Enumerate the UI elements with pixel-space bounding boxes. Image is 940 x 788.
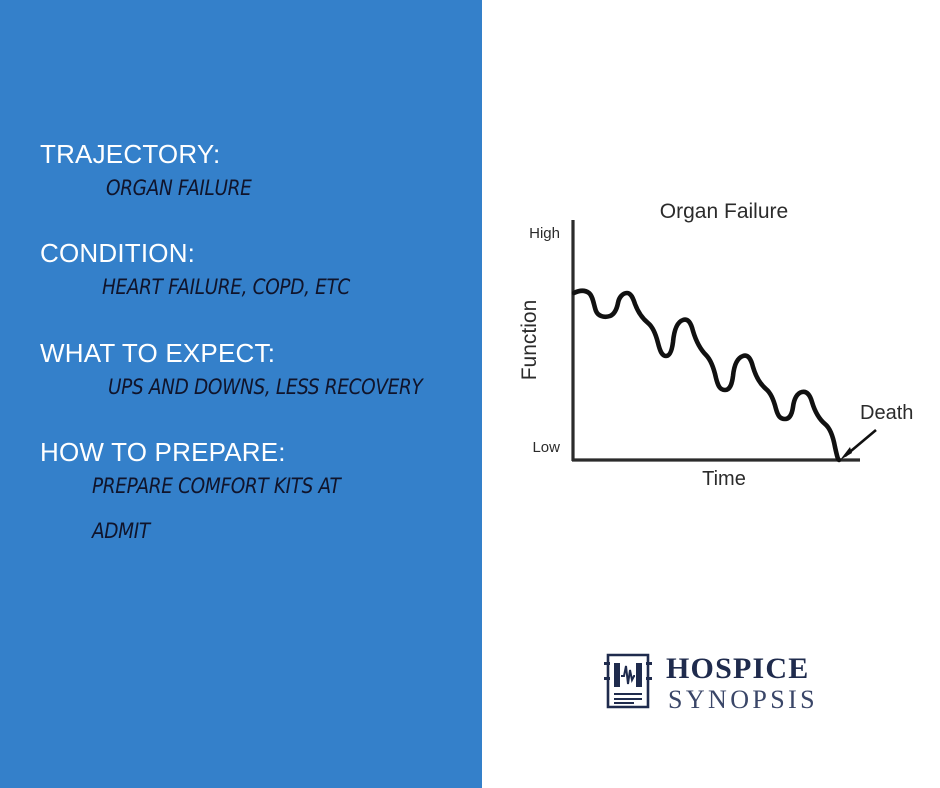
info-label-condition: CONDITION: (40, 239, 482, 268)
info-block-how-to-prepare: HOW TO PREPARE: PREPARE COMFORT KITS AT … (0, 438, 482, 545)
organ-failure-chart: Organ Failure High Low Function Time Dea… (492, 190, 922, 510)
chart-ylabel: Function (518, 300, 541, 381)
info-block-trajectory: TRAJECTORY: ORGAN FAILURE (0, 140, 482, 201)
info-value-line: PREPARE COMFORT KITS AT (92, 473, 435, 499)
right-content-panel: Organ Failure High Low Function Time Dea… (482, 0, 940, 788)
info-value-line: ORGAN FAILURE (106, 175, 437, 201)
trajectory-info-list: TRAJECTORY: ORGAN FAILURE CONDITION: HEA… (0, 140, 482, 545)
logo-title: HOSPICE (666, 654, 818, 684)
info-value-what-to-expect: UPS AND DOWNS, LESS RECOVERY (108, 374, 437, 400)
chart-title: Organ Failure (660, 200, 788, 223)
chart-annotation-death: Death (860, 402, 913, 424)
death-arrow-icon (840, 430, 876, 460)
slide-root: TRAJECTORY: ORGAN FAILURE CONDITION: HEA… (0, 0, 940, 788)
chart-function-curve (574, 291, 839, 460)
info-value-trajectory: ORGAN FAILURE (106, 175, 437, 201)
info-label-what-to-expect: WHAT TO EXPECT: (40, 339, 482, 368)
info-value-line: HEART FAILURE, COPD, ETC (102, 274, 436, 300)
chart-ytick-high: High (529, 225, 560, 242)
info-value-line: UPS AND DOWNS, LESS RECOVERY (108, 374, 437, 400)
left-info-panel: TRAJECTORY: ORGAN FAILURE CONDITION: HEA… (0, 0, 482, 788)
info-value-line: ADMIT (92, 518, 435, 544)
logo-subtitle: SYNOPSIS (668, 687, 818, 713)
info-value-how-to-prepare: PREPARE COMFORT KITS AT ADMIT (92, 473, 435, 545)
hospice-synopsis-logo: HOSPICE SYNOPSIS (602, 650, 818, 717)
info-block-condition: CONDITION: HEART FAILURE, COPD, ETC (0, 239, 482, 300)
document-ekg-icon (602, 650, 654, 717)
info-label-trajectory: TRAJECTORY: (40, 140, 482, 169)
info-value-condition: HEART FAILURE, COPD, ETC (102, 274, 436, 300)
chart-xlabel: Time (702, 468, 746, 490)
chart-ytick-low: Low (532, 439, 560, 456)
chart-svg: Organ Failure High Low Function Time Dea… (492, 190, 922, 510)
info-block-what-to-expect: WHAT TO EXPECT: UPS AND DOWNS, LESS RECO… (0, 339, 482, 400)
info-label-how-to-prepare: HOW TO PREPARE: (40, 438, 482, 467)
logo-wordmark: HOSPICE SYNOPSIS (666, 654, 818, 713)
